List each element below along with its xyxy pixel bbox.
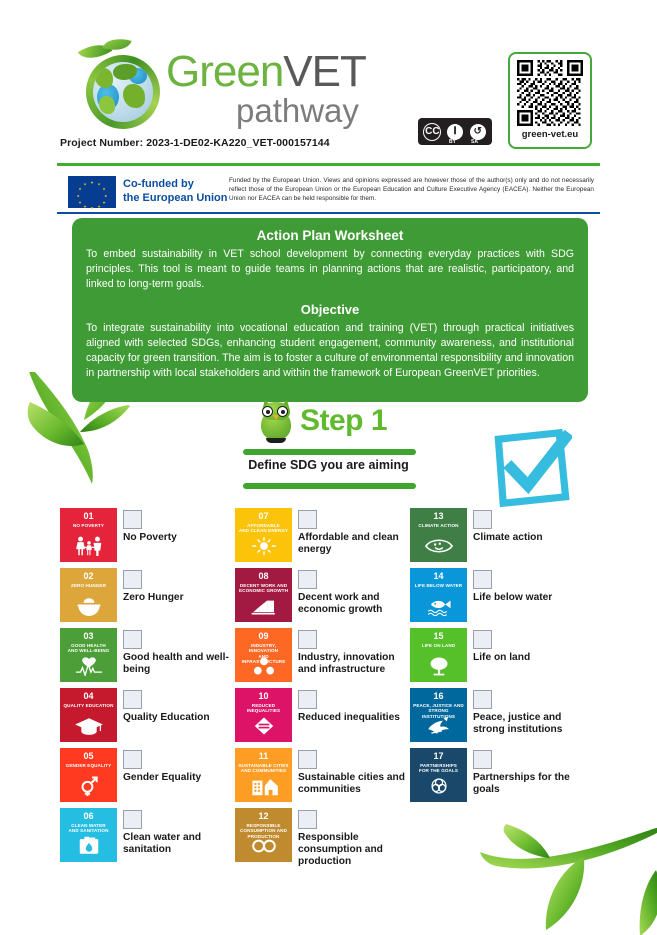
cc-by-icon: 𝐢 [446,123,464,141]
sdg-tile-14: 14LIFE BELOW WATER [410,568,467,622]
sdg-item-10: 10REDUCEDINEQUALITIESReduced inequalitie… [235,688,410,745]
objective-body-text: To integrate sustainability into vocatio… [86,321,574,381]
eu-funding-bar: Co-funded by the European Union Funded b… [57,175,602,208]
infrastructure-icon [235,656,292,679]
sdg-checkbox-15[interactable] [473,630,492,649]
sdg-item-02: 02ZERO HUNGERZero Hunger [60,568,235,625]
gender-equality-icon [60,776,117,799]
greenvet-logo: GreenVET pathway [58,33,388,153]
fish-icon [410,596,467,619]
sdg-label: Zero Hunger [123,592,233,604]
sdg-entry-13: Climate action [473,508,583,544]
sdg-tile-16: 16PEACE, JUSTICE ANDSTRONG INSTITUTIONS [410,688,467,742]
sdg-label: Gender Equality [123,772,233,784]
blue-divider [57,212,600,214]
sdg-checkbox-11[interactable] [298,750,317,769]
sdg-kicker: CLEAN WATERAND SANITATION [60,823,117,834]
sdg-entry-14: Life below water [473,568,583,604]
sdg-kicker: REDUCEDINEQUALITIES [235,703,292,714]
sdg-number: 06 [60,812,117,821]
sdg-entry-15: Life on land [473,628,583,664]
sdg-item-17: 17PARTNERSHIPSFOR THE GOALSPartnerships … [410,748,585,805]
sdg-item-09: 09INDUSTRY, INNOVATIONAND INFRASTRUCTURE… [235,628,410,685]
sdg-tile-06: 06CLEAN WATERAND SANITATION [60,808,117,862]
sdg-tile-01: 01NO POVERTY [60,508,117,562]
logo-word-green: Green [166,47,283,96]
action-plan-worksheet-box: Action Plan Worksheet To embed sustainab… [72,218,588,402]
sdg-kicker: LIFE BELOW WATER [410,583,467,588]
qr-code-label: green-vet.eu [522,129,579,140]
sdg-tile-11: 11SUSTAINABLE CITIESAND COMMUNITIES [235,748,292,802]
sdg-item-04: 04QUALITY EDUCATIONQuality Education [60,688,235,745]
sdg-kicker: SUSTAINABLE CITIESAND COMMUNITIES [235,763,292,774]
sdg-tile-10: 10REDUCEDINEQUALITIES [235,688,292,742]
green-divider [57,163,600,166]
sdg-label: Life below water [473,592,583,604]
sdg-label: Affordable and clean energy [298,532,408,556]
growth-chart-icon [235,596,292,619]
sdg-entry-08: Decent work and economic growth [298,568,408,616]
sdg-number: 09 [235,632,292,641]
sdg-number: 16 [410,692,467,701]
sdg-checkbox-06[interactable] [123,810,142,829]
worksheet-title: Action Plan Worksheet [86,228,574,243]
sdg-kicker: NO POVERTY [60,523,117,528]
city-buildings-icon [235,776,292,799]
sdg-label: Clean water and sanitation [123,832,233,856]
sdg-tile-03: 03GOOD HEALTHAND WELL-BEING [60,628,117,682]
sdg-entry-02: Zero Hunger [123,568,233,604]
qr-code-icon [517,60,583,126]
sdg-item-07: 07AFFORDABLEAND CLEAN ENERGYAffordable a… [235,508,410,565]
sdg-entry-10: Reduced inequalities [298,688,408,724]
equal-arrows-icon [235,716,292,739]
sdg-tile-17: 17PARTNERSHIPSFOR THE GOALS [410,748,467,802]
sdg-kicker: QUALITY EDUCATION [60,703,117,708]
sdg-tile-13: 13CLIMATE ACTION [410,508,467,562]
sdg-label: Quality Education [123,712,233,724]
sdg-number: 14 [410,572,467,581]
sdg-entry-17: Partnerships for the goals [473,748,583,796]
sdg-item-06: 06CLEAN WATERAND SANITATIONClean water a… [60,808,235,865]
logo-globe [93,62,153,122]
sdg-checkbox-12[interactable] [298,810,317,829]
sdg-checkbox-09[interactable] [298,630,317,649]
sdg-label: Reduced inequalities [298,712,408,724]
globe-continent [99,96,115,114]
sdg-label: Climate action [473,532,583,544]
leaf-branch-icon [470,810,657,935]
sdg-tile-07: 07AFFORDABLEAND CLEAN ENERGY [235,508,292,562]
sdg-checkbox-10[interactable] [298,690,317,709]
sdg-checkbox-04[interactable] [123,690,142,709]
sdg-label: Decent work and economic growth [298,592,408,616]
sdg-label: Sustainable cities and communities [298,772,408,796]
sdg-label: Industry, innovation and infrastructure [298,652,408,676]
sdg-item-03: 03GOOD HEALTHAND WELL-BEINGGood health a… [60,628,235,685]
sdg-item-12: 12RESPONSIBLECONSUMPTION ANDPRODUCTIONRe… [235,808,410,865]
tree-icon [410,656,467,679]
sdg-entry-09: Industry, innovation and infrastructure [298,628,408,676]
sdg-kicker: GOOD HEALTHAND WELL-BEING [60,643,117,654]
sdg-number: 17 [410,752,467,761]
sdg-entry-11: Sustainable cities and communities [298,748,408,796]
cc-sa-label: SA [471,139,478,145]
cc-by-label: BY [449,139,456,145]
infinity-icon [235,836,292,859]
sdg-tile-08: 08DECENT WORK ANDECONOMIC GROWTH [235,568,292,622]
sdg-number: 13 [410,512,467,521]
water-tap-icon [60,836,117,859]
sdg-checkbox-08[interactable] [298,570,317,589]
step-divider-bottom [243,483,416,489]
sdg-label: Responsible consumption and production [298,832,408,869]
sdg-kicker: LIFE ON LAND [410,643,467,648]
sdg-entry-05: Gender Equality [123,748,233,784]
sdg-kicker: DECENT WORK ANDECONOMIC GROWTH [235,583,292,594]
logo-word-grey: VET [283,47,366,96]
sdg-entry-12: Responsible consumption and production [298,808,408,869]
globe-leaf-logo-icon [78,41,166,129]
sdg-number: 07 [235,512,292,521]
cc-icon: CC [423,123,441,141]
sun-icon [235,536,292,559]
qr-code-box[interactable]: green-vet.eu [508,52,592,149]
sdg-item-15: 15LIFE ON LANDLife on land [410,628,585,685]
sdg-number: 15 [410,632,467,641]
sdg-entry-03: Good health and well-being [123,628,233,676]
owl-beak [273,415,279,420]
sdg-kicker: PARTNERSHIPSFOR THE GOALS [410,763,467,774]
step-title: Step 1 [300,404,387,438]
project-number: Project Number: 2023-1-DE02-KA220_VET-00… [60,137,330,149]
sdg-number: 01 [60,512,117,521]
eu-cofunded-label: Co-funded by the European Union [123,177,228,205]
sdg-item-08: 08DECENT WORK ANDECONOMIC GROWTHDecent w… [235,568,410,625]
sdg-item-14: 14LIFE BELOW WATERLife below water [410,568,585,625]
eu-label-line2: the European Union [123,191,228,205]
sdg-tile-15: 15LIFE ON LAND [410,628,467,682]
sdg-number: 08 [235,572,292,581]
sdg-label: Partnerships for the goals [473,772,583,796]
sdg-tile-02: 02ZERO HUNGER [60,568,117,622]
sdg-number: 02 [60,572,117,581]
sdg-tile-05: 05GENDER EQUALITY [60,748,117,802]
sdg-kicker: CLIMATE ACTION [410,523,467,528]
sdg-tile-04: 04QUALITY EDUCATION [60,688,117,742]
dove-gavel-icon [410,716,467,739]
family-icon [60,536,117,559]
sdg-entry-01: No Poverty [123,508,233,544]
sdg-label: Peace, justice and strong institutions [473,712,583,736]
checkbox-tick-icon [492,428,572,508]
sdg-checkbox-14[interactable] [473,570,492,589]
sdg-checkbox-02[interactable] [123,570,142,589]
sdg-checkbox-05[interactable] [123,750,142,769]
sdg-number: 03 [60,632,117,641]
owl-eye [262,406,273,417]
globe-continent [95,68,113,88]
sdg-item-13: 13CLIMATE ACTIONClimate action [410,508,585,565]
sdg-number: 10 [235,692,292,701]
sdg-checkbox-17[interactable] [473,750,492,769]
logo-wordmark: GreenVET [166,47,366,97]
sdg-tile-12: 12RESPONSIBLECONSUMPTION ANDPRODUCTION [235,808,292,862]
cc-sa-icon: ↺ [469,123,487,141]
sdg-item-05: 05GENDER EQUALITYGender Equality [60,748,235,805]
objective-title: Objective [86,302,574,317]
sdg-checkbox-07[interactable] [298,510,317,529]
eu-label-line1: Co-funded by [123,177,228,191]
sdg-kicker: GENDER EQUALITY [60,763,117,768]
sdg-item-01: 01NO POVERTYNo Poverty [60,508,235,565]
sdg-entry-04: Quality Education [123,688,233,724]
sdg-kicker: AFFORDABLEAND CLEAN ENERGY [235,523,292,534]
sdg-tile-09: 09INDUSTRY, INNOVATIONAND INFRASTRUCTURE [235,628,292,682]
sdg-label: No Poverty [123,532,233,544]
page-header: GreenVET pathway Project Number: 2023-1-… [0,0,657,160]
owl-feet [266,438,286,443]
sdg-label: Life on land [473,652,583,664]
sdg-entry-06: Clean water and sanitation [123,808,233,856]
sdg-entry-16: Peace, justice and strong institutions [473,688,583,736]
circles-partnership-icon [410,776,467,799]
bowl-icon [60,596,117,619]
sdg-checkbox-03[interactable] [123,630,142,649]
owl-icon [258,402,294,442]
eu-disclaimer-text: Funded by the European Union. Views and … [229,176,594,203]
sdg-number: 05 [60,752,117,761]
sdg-checkbox-16[interactable] [473,690,492,709]
logo-subtext: pathway [236,92,359,130]
sdg-item-16: 16PEACE, JUSTICE ANDSTRONG INSTITUTIONSP… [410,688,585,745]
step-divider-top [243,449,416,455]
sdg-item-11: 11SUSTAINABLE CITIESAND COMMUNITIESSusta… [235,748,410,805]
sdg-checkbox-13[interactable] [473,510,492,529]
eu-flag-icon [68,176,116,208]
eye-climate-icon [410,536,467,559]
heartbeat-icon [60,656,117,679]
globe-continent [123,84,145,108]
graduation-cap-icon [60,716,117,739]
sdg-kicker: ZERO HUNGER [60,583,117,588]
sdg-number: 04 [60,692,117,701]
sdg-number: 11 [235,752,292,761]
sdg-label: Good health and well-being [123,652,233,676]
sdg-number: 12 [235,812,292,821]
worksheet-intro-text: To embed sustainability in VET school de… [86,247,574,292]
creative-commons-badge: CC 𝐢 ↺ BY SA [418,118,492,145]
sdg-checkbox-01[interactable] [123,510,142,529]
sdg-entry-07: Affordable and clean energy [298,508,408,556]
